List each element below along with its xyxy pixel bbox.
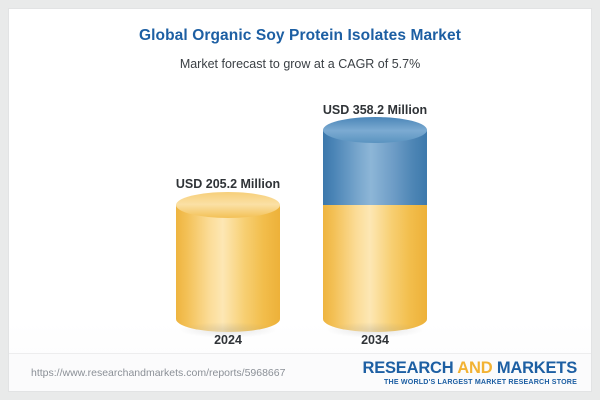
bar-cylinder-body-2024 — [176, 205, 280, 319]
category-label-2024: 2024 — [176, 333, 280, 347]
brand-logo[interactable]: RESEARCH AND MARKETS THE WORLD'S LARGEST… — [362, 360, 577, 386]
bar-cylinder-2034-base[interactable] — [323, 205, 427, 319]
bar-value-label-2034: USD 358.2 Million — [289, 103, 461, 117]
brand-logo-word-research: RESEARCH — [362, 359, 453, 377]
bar-cylinder-body-2034-base — [323, 205, 427, 319]
brand-logo-word-markets: MARKETS — [497, 359, 577, 377]
bar-cylinder-2024[interactable] — [176, 205, 280, 319]
chart-card: Global Organic Soy Protein Isolates Mark… — [8, 8, 592, 392]
bar-cylinder-2034-growth[interactable] — [323, 130, 427, 205]
bar-cylinder-cap-2034 — [323, 117, 427, 143]
brand-logo-tagline: THE WORLD'S LARGEST MARKET RESEARCH STOR… — [362, 378, 577, 386]
chart-plot-area: USD 205.2 Million 2024 USD 358.2 Million — [9, 9, 592, 353]
brand-logo-wordmark: RESEARCH AND MARKETS — [362, 360, 577, 377]
chart-footer: https://www.researchandmarkets.com/repor… — [9, 354, 592, 392]
category-label-2034: 2034 — [323, 333, 427, 347]
bar-value-label-2024: USD 205.2 Million — [142, 177, 314, 191]
bar-cylinder-cap-2024 — [176, 192, 280, 218]
report-url[interactable]: https://www.researchandmarkets.com/repor… — [31, 367, 285, 379]
brand-logo-word-and-text: AND — [457, 359, 492, 377]
